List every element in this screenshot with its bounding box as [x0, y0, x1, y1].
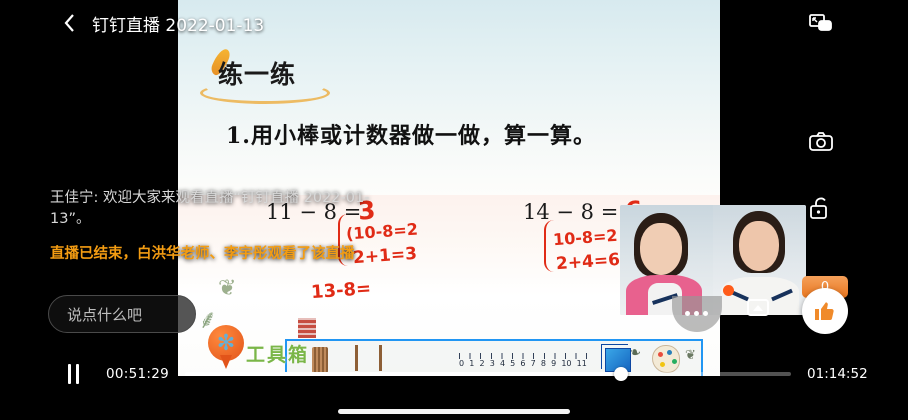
- progress-fill: [185, 372, 621, 376]
- page-title: 钉钉直播 2022-01-13: [92, 11, 264, 36]
- slide-section-title: 练一练: [218, 55, 296, 91]
- chat-input[interactable]: 说点什么吧: [48, 295, 196, 333]
- chat-message-system: 王佳宁: 欢迎大家来观看直播“钉钉直播 2022-01-13”。: [50, 188, 380, 230]
- unlock-icon[interactable]: [808, 196, 836, 222]
- pause-icon[interactable]: [68, 364, 84, 384]
- camera-icon[interactable]: [808, 130, 836, 156]
- progress-slider[interactable]: [185, 372, 791, 376]
- annotation-3: 13-8=: [310, 278, 371, 303]
- chat-message-list: 王佳宁: 欢迎大家来观看直播“钉钉直播 2022-01-13”。 直播已结束，白…: [50, 188, 380, 279]
- equation-2: 14 − 8 =: [523, 200, 618, 224]
- progress-handle[interactable]: [614, 367, 628, 381]
- slide-question: 1.用小棒或计数器做一做，算一算。: [226, 118, 596, 150]
- current-time: 00:51:29: [106, 366, 169, 382]
- thumbs-up-icon[interactable]: [802, 288, 848, 334]
- more-dots-icon[interactable]: [672, 298, 720, 328]
- player-controls: 00:51:29 01:14:52: [0, 352, 908, 396]
- chat-message-notice: 直播已结束，白洪华老师、李宇彤观看了该直播: [50, 244, 380, 265]
- live-replay-player: 练一练 1.用小棒或计数器做一做，算一算。 11 − 8 = 3 14 − 8 …: [0, 0, 908, 420]
- notification-dot: [723, 285, 734, 296]
- total-time: 01:14:52: [807, 366, 868, 382]
- picture-in-picture-icon[interactable]: [808, 12, 836, 38]
- tv-cast-icon[interactable]: [744, 296, 772, 322]
- home-indicator[interactable]: [338, 409, 570, 414]
- back-button[interactable]: [58, 12, 80, 34]
- annotation-brace-right: [544, 220, 554, 272]
